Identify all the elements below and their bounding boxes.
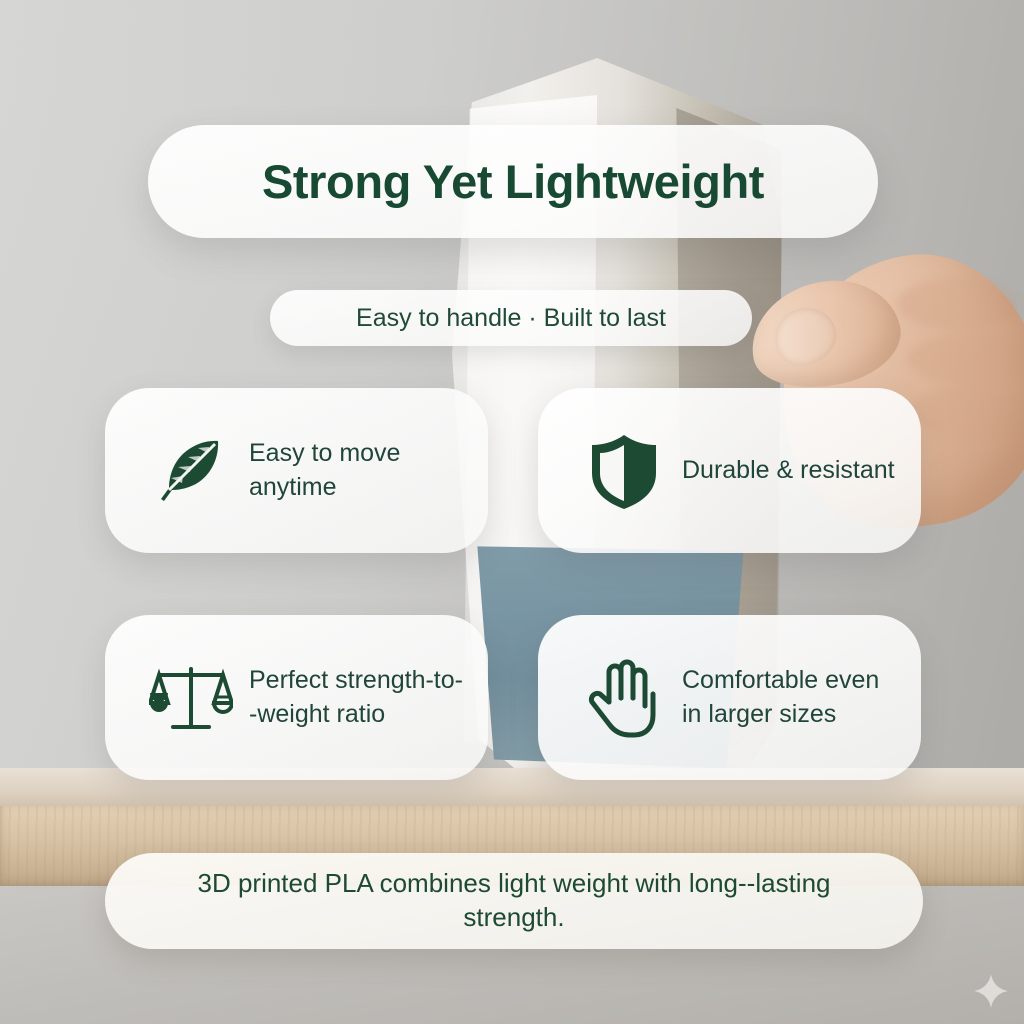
feature-card-easy-to-move: Easy to move anytime (105, 388, 488, 553)
footer-pill: 3D printed PLA combines light weight wit… (105, 853, 923, 949)
feature-label: Easy to move anytime (249, 437, 468, 504)
feature-card-strength-to-weight: Perfect strength-to--weight ratio (105, 615, 488, 780)
open-hand-icon (582, 656, 666, 740)
feature-label: Durable & resistant (682, 454, 895, 487)
title-pill: Strong Yet Lightweight (148, 125, 878, 238)
feather-icon (149, 429, 233, 513)
feature-label: Perfect strength-to--weight ratio (249, 664, 468, 731)
feature-card-durable: Durable & resistant (538, 388, 921, 553)
feature-label: Comfortable even in larger sizes (682, 664, 901, 731)
knuckle-1 (898, 278, 1018, 330)
balance-scale-icon (149, 656, 233, 740)
footer-caption: 3D printed PLA combines light weight wit… (194, 867, 834, 935)
sparkle-icon (974, 974, 1008, 1008)
knuckle-3 (908, 388, 1024, 436)
feature-card-comfortable: Comfortable even in larger sizes (538, 615, 921, 780)
subtitle-pill: Easy to handle · Built to last (270, 290, 752, 346)
shield-icon (582, 429, 666, 513)
promo-graphic: Strong Yet Lightweight Easy to handle · … (0, 0, 1024, 1024)
thumbnail (765, 297, 846, 376)
page-title: Strong Yet Lightweight (262, 154, 764, 209)
page-subtitle: Easy to handle · Built to last (356, 304, 666, 333)
